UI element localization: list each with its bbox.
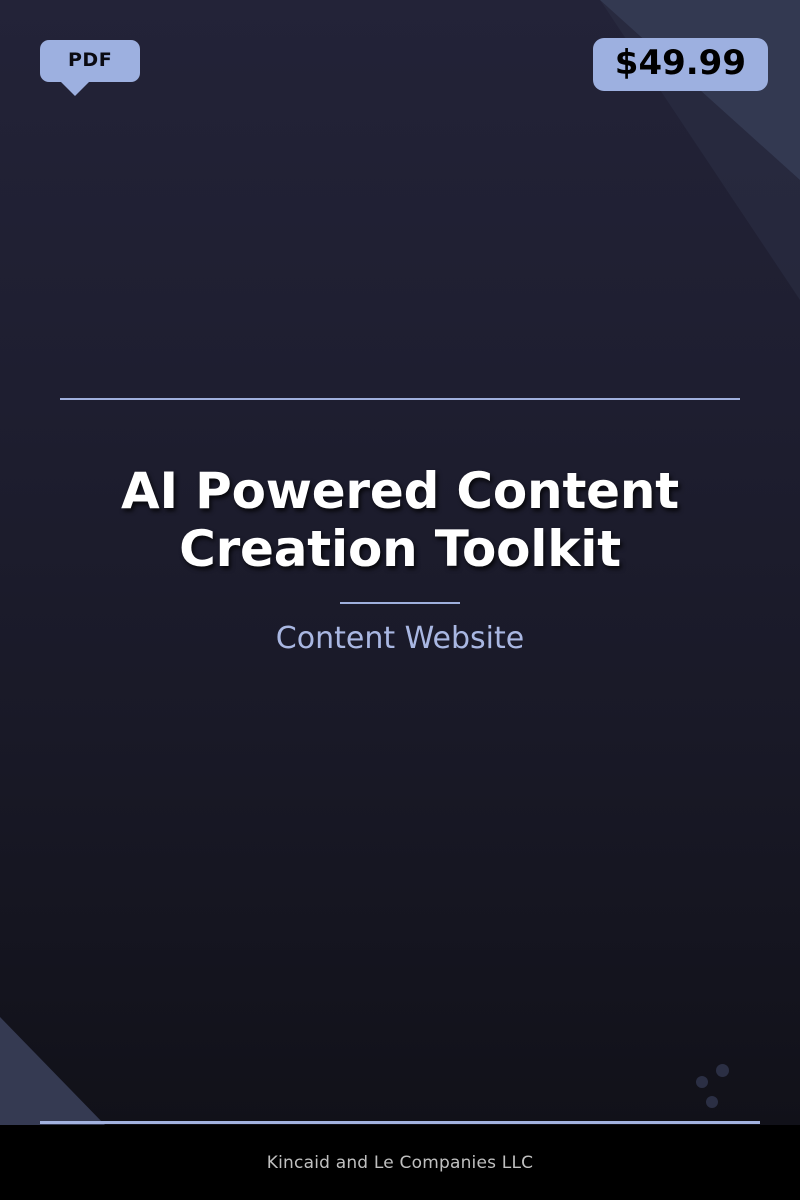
format-badge-label: PDF bbox=[40, 40, 140, 82]
format-badge-pointer-icon bbox=[60, 81, 90, 96]
footer-company-name: Kincaid and Le Companies LLC bbox=[267, 1153, 533, 1173]
hero-divider bbox=[340, 602, 460, 604]
format-badge[interactable]: PDF bbox=[40, 40, 140, 82]
dot-middle-left-icon bbox=[696, 1076, 708, 1088]
hero-rule-top bbox=[60, 398, 740, 400]
page-title: AI Powered Content Creation Toolkit bbox=[60, 462, 740, 578]
corner-wedge-bottom-left bbox=[0, 1017, 105, 1125]
price-badge[interactable]: $49.99 bbox=[593, 38, 768, 91]
footer-rule bbox=[40, 1121, 760, 1124]
page-subtitle: Content Website bbox=[0, 621, 800, 657]
hero-title-block: AI Powered Content Creation Toolkit Cont… bbox=[0, 398, 800, 657]
dot-upper-right-icon bbox=[716, 1064, 729, 1077]
decorative-dots-cluster bbox=[690, 1058, 740, 1114]
product-cover-card: PDF $49.99 AI Powered Content Creation T… bbox=[0, 0, 800, 1200]
dot-lower-center-icon bbox=[706, 1096, 718, 1108]
footer: Kincaid and Le Companies LLC bbox=[0, 1125, 800, 1200]
cover-canvas: PDF $49.99 AI Powered Content Creation T… bbox=[0, 0, 800, 1125]
